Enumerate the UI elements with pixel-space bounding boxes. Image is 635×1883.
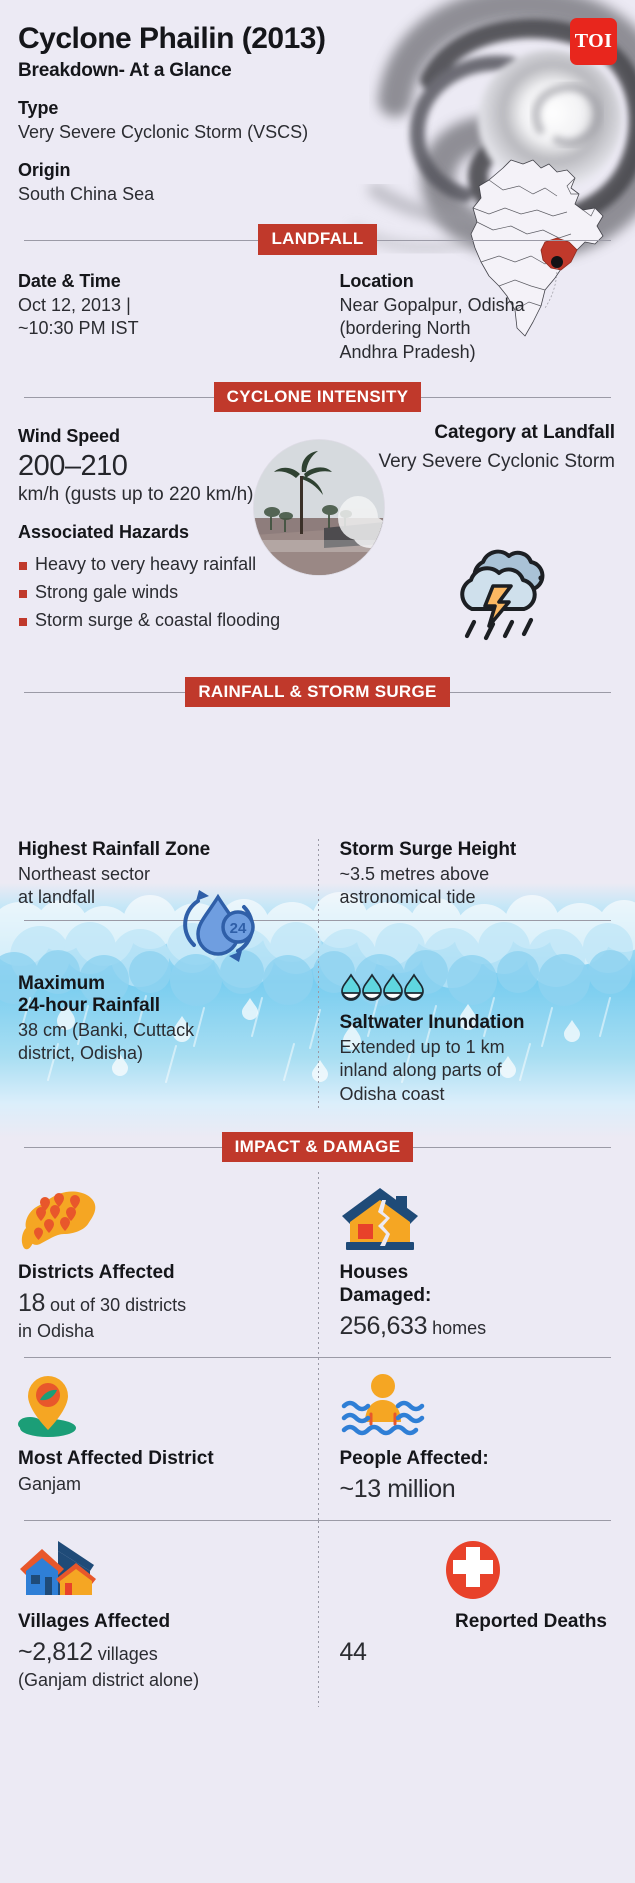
thunderstorm-cloud-icon: [449, 544, 561, 648]
landfall-location-place: Gopalpur: [384, 295, 458, 315]
saltwater-inundation-cell: Saltwater Inundation Extended up to 1 km…: [318, 973, 618, 1106]
impact-row-2: Most Affected District Ganjam: [18, 1358, 617, 1520]
storm-photo: [254, 440, 384, 575]
landfall-location-value: Near Gopalpur, Odisha (bordering North A…: [340, 294, 618, 364]
landfall-datetime-cell: Date & Time Oct 12, 2013 | ~10:30 PM IST: [18, 265, 318, 364]
saltwater-drops-icon: [340, 973, 426, 1009]
category-value: Very Severe Cyclonic Storm: [340, 449, 616, 475]
impact-row-1: Districts Affected 18 out of 30 district…: [18, 1172, 617, 1358]
toi-logo[interactable]: TOI: [570, 18, 617, 65]
districts-affected-title: Districts Affected: [18, 1262, 308, 1285]
districts-affected-cell: Districts Affected 18 out of 30 district…: [18, 1172, 318, 1358]
damaged-house-icon: [340, 1184, 608, 1254]
reported-deaths-cell: Reported Deaths 44: [318, 1521, 618, 1707]
most-affected-district-value: Ganjam: [18, 1473, 308, 1497]
villages-affected-title: Villages Affected: [18, 1611, 308, 1634]
landfall-location-cell: Location Near Gopalpur, Odisha (borderin…: [318, 265, 618, 364]
houses-damaged-number: 256,633: [340, 1312, 428, 1340]
max-24h-rainfall-title: Maximum 24-hour Rainfall: [18, 973, 304, 1017]
location-pin-icon: [18, 1370, 308, 1440]
villages-affected-cell: Villages Affected ~2,812 villages (Ganja…: [18, 1521, 318, 1707]
landfall-location-line3: Andhra Pradesh): [340, 342, 476, 362]
vertical-divider: [318, 1521, 319, 1707]
people-affected-cell: People Affected: ~13 million: [318, 1358, 618, 1520]
highest-rainfall-zone-cell: Highest Rainfall Zone Northeast sector a…: [18, 839, 318, 910]
rainfall-row-1: Highest Rainfall Zone Northeast sector a…: [18, 839, 617, 920]
houses-damaged-value: 256,633 homes: [340, 1310, 608, 1343]
people-affected-value: ~13 million: [340, 1473, 608, 1506]
svg-text:24: 24: [230, 920, 247, 937]
page-subtitle: Breakdown- At a Glance: [18, 60, 617, 82]
reported-deaths-number: 44: [340, 1638, 367, 1666]
districts-affected-number: 18: [18, 1289, 45, 1317]
section-banner-impact: IMPACT & DAMAGE: [222, 1132, 414, 1163]
section-banner-intensity: CYCLONE INTENSITY: [214, 382, 422, 413]
toi-logo-text: TOI: [575, 30, 613, 53]
storm-surge-height-value: ~3.5 metres above astronomical tide: [340, 863, 618, 910]
saltwater-inundation-title: Saltwater Inundation: [340, 1012, 618, 1034]
vertical-divider: [318, 839, 319, 920]
section-banner-rainfall: RAINFALL & STORM SURGE: [185, 677, 449, 708]
section-divider-rainfall: RAINFALL & STORM SURGE: [18, 677, 617, 707]
odisha-map-pins-icon: [18, 1184, 308, 1254]
reported-deaths-title: Reported Deaths: [340, 1611, 608, 1634]
max-24h-rainfall-cell: Maximum 24-hour Rainfall 38 cm (Banki, C…: [18, 973, 318, 1106]
storm-surge-height-title: Storm Surge Height: [340, 839, 618, 861]
districts-affected-value: 18 out of 30 districts in Odisha: [18, 1287, 308, 1344]
houses-damaged-rest: homes: [427, 1318, 486, 1338]
landfall-location-line2: (bordering North: [340, 318, 471, 338]
type-label: Type: [18, 98, 617, 119]
origin-label: Origin: [18, 160, 617, 181]
landfall-date-value: Oct 12, 2013 | ~10:30 PM IST: [18, 294, 304, 341]
landfall-location-post: , Odisha: [458, 295, 525, 315]
vertical-divider: [318, 921, 319, 1110]
infographic-page: TOI: [0, 0, 635, 1883]
intensity-block: Wind Speed 200–210 km/h (gusts up to 220…: [18, 422, 617, 657]
landfall-date-label: Date & Time: [18, 271, 304, 292]
type-value: Very Severe Cyclonic Storm (VSCS): [18, 121, 617, 144]
people-affected-title: People Affected:: [340, 1448, 608, 1471]
rainfall-row-2: 24 Maximum 24-hour Rainfall 38 cm (Banki…: [18, 921, 617, 1110]
origin-value: South China Sea: [18, 183, 617, 206]
villages-affected-number: ~2,812: [18, 1638, 93, 1666]
villages-affected-value: ~2,812 villages (Ganjam district alone): [18, 1636, 308, 1693]
people-affected-number: ~13 million: [340, 1475, 456, 1503]
section-banner-landfall: LANDFALL: [258, 224, 376, 255]
section-divider-landfall: LANDFALL: [18, 225, 617, 255]
storm-surge-height-cell: Storm Surge Height ~3.5 metres above ast…: [318, 839, 618, 910]
vertical-divider: [318, 1172, 319, 1358]
page-title: Cyclone Phailin (2013): [18, 0, 617, 55]
max-24h-rainfall-value: 38 cm (Banki, Cuttack district, Odisha): [18, 1019, 304, 1066]
impact-grid: Districts Affected 18 out of 30 district…: [18, 1172, 617, 1707]
landfall-location-label: Location: [340, 271, 618, 292]
houses-damaged-cell: Houses Damaged: 256,633 homes: [318, 1172, 618, 1358]
person-in-flood-icon: [340, 1370, 608, 1440]
most-affected-district-title: Most Affected District: [18, 1448, 308, 1471]
impact-row-3: Villages Affected ~2,812 villages (Ganja…: [18, 1521, 617, 1707]
highest-rainfall-zone-title: Highest Rainfall Zone: [18, 839, 304, 861]
vertical-divider: [318, 1358, 319, 1520]
reported-deaths-value: 44: [340, 1636, 608, 1669]
medical-cross-icon: [340, 1533, 608, 1603]
saltwater-inundation-value: Extended up to 1 km inland along parts o…: [340, 1036, 618, 1106]
section-divider-intensity: CYCLONE INTENSITY: [18, 382, 617, 412]
24-hour-rainfall-drop-icon: 24: [170, 877, 266, 973]
houses-icon: [18, 1533, 308, 1603]
wind-speed-label: Wind Speed: [18, 426, 304, 447]
most-affected-district-cell: Most Affected District Ganjam: [18, 1358, 318, 1520]
section-divider-impact: IMPACT & DAMAGE: [18, 1132, 617, 1162]
houses-damaged-title: Houses Damaged:: [340, 1262, 608, 1308]
category-label: Category at Landfall: [340, 422, 616, 445]
rainfall-block: Highest Rainfall Zone Northeast sector a…: [18, 717, 617, 1110]
landfall-grid: Date & Time Oct 12, 2013 | ~10:30 PM IST…: [18, 265, 617, 364]
landfall-location-pre: Near: [340, 295, 384, 315]
